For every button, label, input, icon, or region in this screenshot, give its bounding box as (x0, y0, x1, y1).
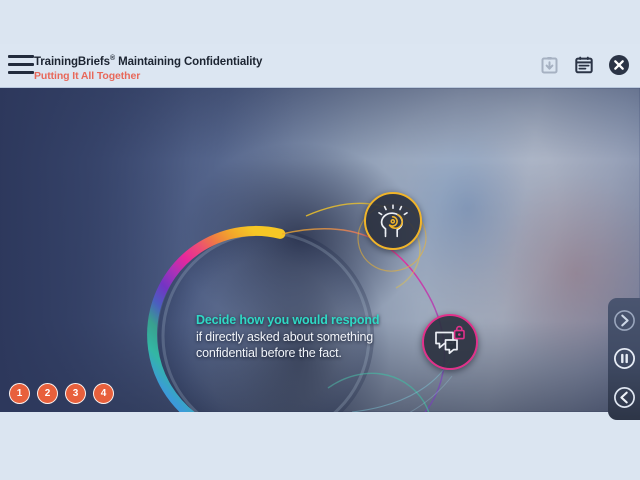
notes-icon[interactable] (571, 52, 597, 78)
step-badge[interactable]: 3 (65, 383, 86, 404)
node-speech-icon[interactable] (422, 314, 478, 370)
step-badge[interactable]: 2 (37, 383, 58, 404)
slide-caption: Decide how you would respond if directly… (196, 312, 426, 361)
hamburger-menu-icon[interactable] (8, 55, 34, 77)
page-title: TrainingBriefs® Maintaining Confidential… (34, 55, 262, 69)
hamburger-bar (8, 63, 34, 66)
course-title-brand: TrainingBriefs (34, 56, 110, 68)
course-title-topic: Maintaining Confidentiality (115, 56, 262, 68)
previous-button[interactable] (612, 385, 637, 410)
caption-heading: Decide how you would respond (196, 312, 426, 328)
download-icon[interactable] (536, 52, 562, 78)
header-tools (536, 52, 632, 78)
hamburger-bar (8, 55, 34, 58)
player-controls (608, 298, 640, 420)
node-idea-icon[interactable] (364, 192, 422, 250)
caption-body: if directly asked about something confid… (196, 329, 426, 361)
close-icon[interactable] (606, 52, 632, 78)
slide-canvas: Decide how you would respond if directly… (0, 88, 640, 412)
step-badge[interactable]: 1 (9, 383, 30, 404)
pause-button[interactable] (612, 346, 637, 371)
next-button[interactable] (612, 308, 637, 333)
course-header: TrainingBriefs® Maintaining Confidential… (0, 44, 640, 88)
ring-diagram (0, 88, 640, 412)
title-block: TrainingBriefs® Maintaining Confidential… (34, 55, 262, 83)
course-subtitle: Putting It All Together (34, 70, 262, 82)
step-badges: 1 2 3 4 (9, 383, 114, 404)
hamburger-bar (8, 71, 34, 74)
course-player-window: TrainingBriefs® Maintaining Confidential… (0, 0, 640, 480)
step-badge[interactable]: 4 (93, 383, 114, 404)
